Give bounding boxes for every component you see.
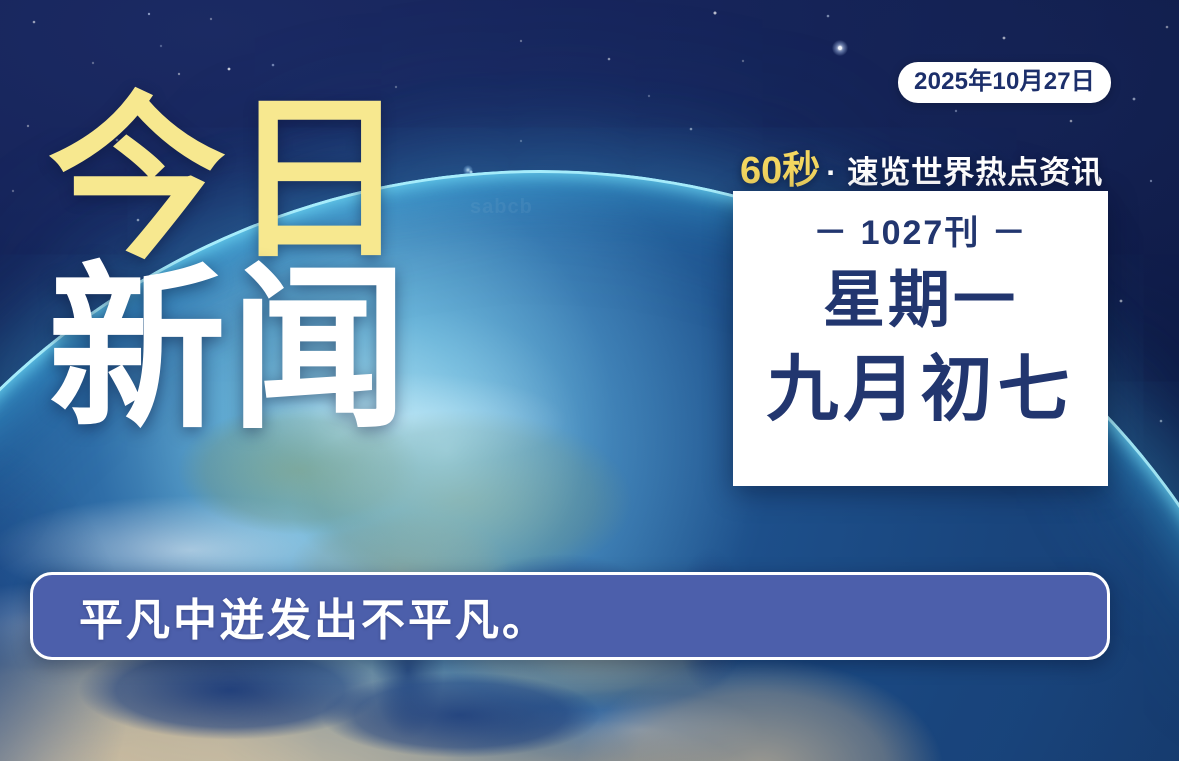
tagline: 60秒· 速览世界热点资讯: [740, 139, 1103, 194]
watermark: sabcb: [470, 196, 533, 219]
bright-star-icon: [832, 40, 848, 56]
weekday-label: 星期一: [823, 270, 1018, 332]
quote-text: 平凡中迸发出不平凡。: [79, 584, 549, 648]
news-poster: sabcb 2025年10月27日 今日 新闻 60秒· 速览世界热点资讯 － …: [0, 0, 1179, 761]
lunar-date-label: 九月初七: [766, 354, 1074, 426]
issue-number: － 1027刊 －: [813, 205, 1028, 254]
page-title-line-top: 今日: [48, 98, 412, 262]
quote-banner: 平凡中迸发出不平凡。: [30, 572, 1110, 660]
starfield-layer-3: [0, 0, 2, 2]
issue-info-card: － 1027刊 － 星期一 九月初七: [733, 191, 1108, 486]
date-badge: 2025年10月27日: [898, 62, 1111, 103]
page-title-line-bottom: 新闻: [48, 268, 412, 432]
tagline-description: · 速览世界热点资讯: [826, 155, 1103, 190]
tagline-seconds: 60秒: [740, 150, 820, 192]
page-title: 今日 新闻: [48, 98, 412, 432]
